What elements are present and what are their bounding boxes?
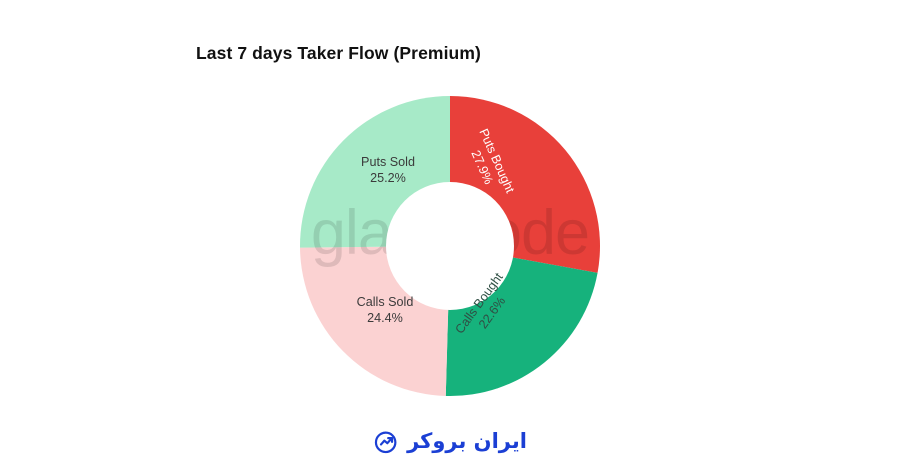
page-title: Last 7 days Taker Flow (Premium) [196,43,481,64]
trend-up-circle-icon [373,428,400,455]
slice-label-value: 24.4% [330,310,440,326]
footer-brand: ایران بروکر [0,428,900,455]
slice-label-value: 25.2% [333,170,443,186]
slice-label-calls-sold: Calls Sold 24.4% [330,294,440,326]
donut-chart: glassnode Puts Bought 27.9% Calls Bought… [300,96,600,396]
slice-label-name: Puts Sold [361,155,415,169]
brand-name: ایران بروکر [407,431,527,452]
slice-label-name: Calls Sold [357,295,414,309]
slice-label-puts-sold: Puts Sold 25.2% [333,154,443,186]
chart-page: Last 7 days Taker Flow (Premium) glassno… [0,0,900,471]
